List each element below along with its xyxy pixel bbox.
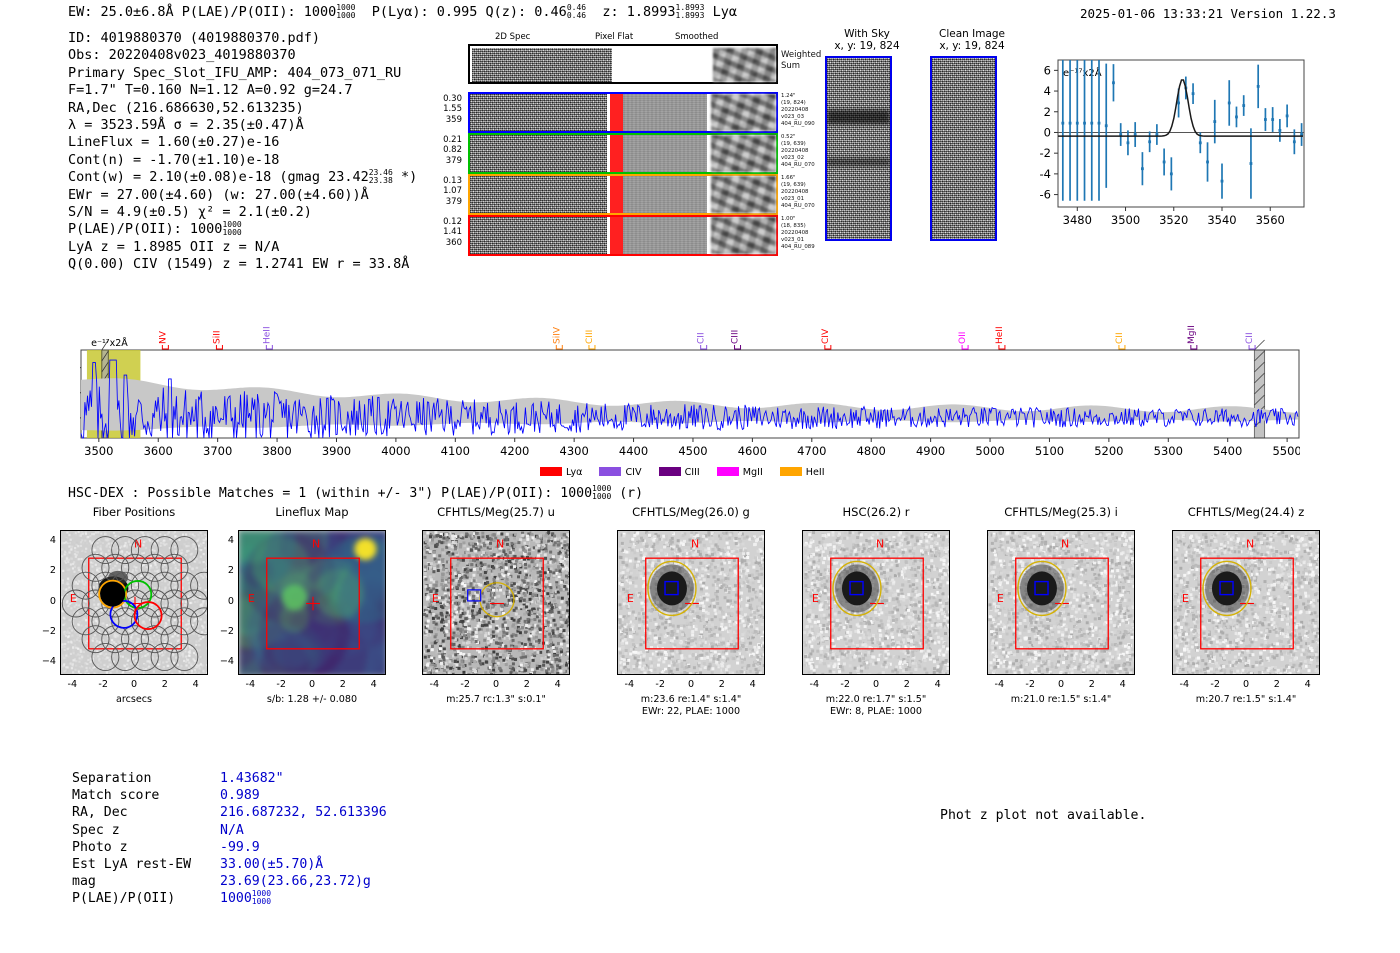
thumbnail-image-4: NE <box>802 530 950 675</box>
cutout-sky-band <box>827 110 890 124</box>
detection-info-block: ID: 4019880370 (4019880370.pdf) Obs: 202… <box>68 30 417 274</box>
cutout-xy-1: x, y: 19, 824 <box>912 40 1032 52</box>
compass-east-6: E <box>1182 592 1189 605</box>
compass-east-0: E <box>70 592 77 605</box>
spec2d-row-3 <box>468 215 778 256</box>
thumb-overlay-4: NE <box>803 531 950 675</box>
thumbnail-caption-3: m:23.6 re:1.4" s:1.4"EWr: 22, PLAE: 1000 <box>585 694 797 718</box>
legend-item-CIV: CIV <box>599 467 641 478</box>
match-value-1: 0.989 <box>220 788 260 803</box>
thumbnail-1-xtick-2: 0 <box>302 679 322 690</box>
linefit-plot: 34803500352035403560-6-4-20246e⁻¹⁷x2Å <box>1020 52 1310 237</box>
bigspec-xtick: 4900 <box>916 444 945 458</box>
thumbnail-caption-2: m:25.7 rc:1.3" s:0.1" <box>390 694 602 706</box>
thumbnail-title-4: HSC(26.2) r <box>777 505 975 519</box>
bigspec-xtick: 3600 <box>144 444 173 458</box>
match-value-6: 23.69(23.66,23.72)g <box>220 874 371 889</box>
legend-label-CIII: CIII <box>685 467 700 478</box>
bigspec-xtick: 5000 <box>975 444 1004 458</box>
thumbnail-caption-line1-6: m:20.7 re:1.5" s:1.4" <box>1140 694 1352 706</box>
thumbnail-caption-line1-1: s/b: 1.28 +/- 0.080 <box>206 694 418 706</box>
svg-text:CII: CII <box>1245 332 1255 344</box>
row-0-pixelflat <box>623 94 707 131</box>
bigspec-xtick: 4700 <box>797 444 826 458</box>
legend-item-CIII: CIII <box>659 467 700 478</box>
row-0-stat-2: 359 <box>422 115 462 125</box>
cutout-panel: With Skyx, y: 19, 824Clean Imagex, y: 19… <box>810 28 1020 243</box>
svg-text:2: 2 <box>1044 105 1051 119</box>
thumbnail-title-3: CFHTLS/Meg(26.0) g <box>592 505 790 519</box>
bigspec-xtick: 3800 <box>262 444 291 458</box>
line-marker-OII-8: OII <box>958 332 968 349</box>
row-3-pixelflat <box>623 217 707 254</box>
svg-text:HeII: HeII <box>995 326 1005 344</box>
thumbnail-0-ytick-4: −4 <box>38 656 56 667</box>
bigspec-xtick: 4500 <box>678 444 707 458</box>
row-2-smoothed <box>711 176 776 213</box>
linefit-unit-label: e⁻¹⁷x2Å <box>1063 66 1102 79</box>
bigspec-xtick: 5300 <box>1154 444 1183 458</box>
line-marker-CIV-7: CIV <box>821 328 831 349</box>
cutout-sky-band-2 <box>827 158 890 166</box>
bigspec-xtick: 4300 <box>560 444 589 458</box>
row-2-stats: 0.131.07379 <box>422 176 462 207</box>
row-1-pixelflat <box>623 135 707 172</box>
svg-text:-2: -2 <box>1040 146 1051 160</box>
bigspec-legend: LyαCIVCIIIMgIIHeII <box>540 462 842 481</box>
bigspec-xtick: 3900 <box>322 444 351 458</box>
thumbnail-6-xtick-3: 2 <box>1267 679 1287 690</box>
match-key-2: RA, Dec <box>72 804 220 821</box>
thumbnail-caption-5: m:21.0 re:1.5" s:1.4" <box>955 694 1167 706</box>
thumbnail-title-5: CFHTLS/Meg(25.3) i <box>962 505 1160 519</box>
line-marker-MgII-11: MgII <box>1187 325 1197 349</box>
row-2-pixelflat <box>623 176 707 213</box>
thumbnail-3-xtick-1: -2 <box>650 679 670 690</box>
weighted-sum-2dspec <box>472 48 612 82</box>
legend-item-HeII: HeII <box>780 467 825 478</box>
thumbnail-0-ytick-0: 4 <box>38 535 56 546</box>
thumbnail-5-xtick-0: -4 <box>989 679 1009 690</box>
match-value-2: 216.687232, 52.613396 <box>220 805 387 820</box>
bigspec-xtick: 4100 <box>441 444 470 458</box>
thumbnail-5-xtick-1: -2 <box>1020 679 1040 690</box>
info-ewr: EWr = 27.00(±4.60) (w: 27.00(±4.60))Å <box>68 187 417 204</box>
legend-label-HeII: HeII <box>806 467 825 478</box>
thumbnail-caption-line1-3: m:23.6 re:1.4" s:1.4" <box>585 694 797 706</box>
row-3-smoothed <box>711 217 776 254</box>
row-0-badcol <box>610 94 623 131</box>
compass-north-2: N <box>496 538 504 551</box>
thumbnail-title-0: Fiber Positions <box>35 505 233 519</box>
match-row-4: Photo z-99.9 <box>72 839 387 856</box>
weighted-sum-row <box>468 44 778 84</box>
legend-label-MgII: MgII <box>743 467 763 478</box>
compass-east-1: E <box>248 592 255 605</box>
info-cont-n: Cont(n) = -1.70(±1.10)e-18 <box>68 152 417 169</box>
bigspec-svg: 0243500360037003800390040004100420043004… <box>80 300 1300 475</box>
cutout-image-0 <box>825 56 892 241</box>
linefit-svg: 34803500352035403560-6-4-20246e⁻¹⁷x2Å <box>1020 52 1310 237</box>
match-row-6: mag23.69(23.66,23.72)g <box>72 873 387 890</box>
cutout-noise-1 <box>930 56 997 241</box>
svg-text:3520: 3520 <box>1159 213 1188 227</box>
spec2d-row-1 <box>468 133 778 174</box>
bigspec-xtick: 5100 <box>1035 444 1064 458</box>
thumbnail-3-xtick-0: -4 <box>619 679 639 690</box>
thumbnail-image-5: NE <box>987 530 1135 675</box>
thumbnail-caption-line2-4: EWr: 8, PLAE: 1000 <box>770 706 982 718</box>
match-key-1: Match score <box>72 787 220 804</box>
svg-text:3560: 3560 <box>1256 213 1285 227</box>
match-key-7: P(LAE)/P(OII) <box>72 890 220 907</box>
row-1-stat-1: 0.82 <box>422 145 462 155</box>
bigspec-xtick: 4600 <box>738 444 767 458</box>
row-3-stats: 0.121.41360 <box>422 217 462 248</box>
thumb-overlay-6: NE <box>1173 531 1320 675</box>
svg-text:3500: 3500 <box>1111 213 1140 227</box>
bigspec-xtick: 4400 <box>619 444 648 458</box>
line-marker-CII-5: CII <box>697 332 707 349</box>
row-3-2dspec <box>470 217 607 254</box>
thumbnail-1-xtick-4: 4 <box>364 679 384 690</box>
spec2d-row-0 <box>468 92 778 133</box>
thumbnail-caption-line1-2: m:25.7 rc:1.3" s:0.1" <box>390 694 602 706</box>
header-z: z: 1.8993 <box>602 4 675 20</box>
legend-swatch-Lyα <box>540 467 562 476</box>
info-id: ID: 4019880370 (4019880370.pdf) <box>68 30 417 47</box>
thumbnail-0-xtick-3: 2 <box>155 679 175 690</box>
timestamp-version: 2025-01-06 13:33:21 Version 1.22.3 <box>1080 6 1336 21</box>
info-q-civ: Q(0.00) CIV (1549) z = 1.2741 EW r = 33.… <box>68 256 417 273</box>
compass-east-5: E <box>997 592 1004 605</box>
thumbnail-image-0: NE <box>60 530 208 675</box>
bigspec-xtick: 5400 <box>1213 444 1242 458</box>
svg-text:CIV: CIV <box>821 328 831 344</box>
weighted-sum-smoothed <box>713 48 776 82</box>
thumbnail-6-xtick-0: -4 <box>1174 679 1194 690</box>
match-value-4: -99.9 <box>220 840 260 855</box>
row-0-stat-0: 0.30 <box>422 94 462 104</box>
thumbnail-0-xtick-2: 0 <box>124 679 144 690</box>
line-marker-CIII-6: CIII <box>731 330 741 349</box>
info-plae-fraction: 10001000 <box>222 221 241 237</box>
match-row-5: Est LyA rest-EW33.00(±5.70)Å <box>72 856 387 873</box>
bigspec-xtick: 4000 <box>381 444 410 458</box>
info-cont-w: Cont(w) = 2.10(±0.08)e-18 (gmag 23.4223.… <box>68 169 417 186</box>
bigspec-xtick: 5500 <box>1272 444 1300 458</box>
svg-text:CII: CII <box>697 332 707 344</box>
match-key-6: mag <box>72 873 220 890</box>
cutout-name-1: Clean Image <box>912 28 1032 40</box>
svg-text:SiII: SiII <box>212 330 222 344</box>
legend-swatch-CIV <box>599 467 621 476</box>
compass-north-6: N <box>1246 538 1254 551</box>
thumb-overlay-1: NE <box>239 531 386 675</box>
thumbnail-1-ytick-4: −4 <box>216 656 234 667</box>
compass-north-5: N <box>1061 538 1069 551</box>
cutout-name-0: With Sky <box>807 28 927 40</box>
thumbnail-5-xtick-2: 0 <box>1051 679 1071 690</box>
legend-label-Lyα: Lyα <box>566 467 582 478</box>
compass-east-4: E <box>812 592 819 605</box>
row-2-stat-0: 0.13 <box>422 176 462 186</box>
compass-north-0: N <box>134 538 142 551</box>
thumbnail-1-ytick-0: 4 <box>216 535 234 546</box>
photz-note: Phot z plot not available. <box>940 808 1146 823</box>
thumbnail-0-xtick-0: -4 <box>62 679 82 690</box>
svg-text:CIII: CIII <box>731 330 741 344</box>
row-3-badcol <box>610 217 623 254</box>
full-spectrum-plot: 0243500360037003800390040004100420043004… <box>80 300 1300 475</box>
spec2d-row-2 <box>468 174 778 215</box>
match-key-4: Photo z <box>72 839 220 856</box>
thumbnail-1-ytick-2: 0 <box>216 596 234 607</box>
row-3-stat-2: 360 <box>422 238 462 248</box>
match-value-0: 1.43682" <box>220 771 284 786</box>
match-key-0: Separation <box>72 770 220 787</box>
compass-north-1: N <box>312 538 320 551</box>
thumbnail-1-ytick-3: −2 <box>216 626 234 637</box>
row-0-smoothed <box>711 94 776 131</box>
cutout-title-0: With Skyx, y: 19, 824 <box>807 28 927 53</box>
cutout-xy-0: x, y: 19, 824 <box>807 40 927 52</box>
info-redshifts: LyA z = 1.8985 OII z = N/A <box>68 239 417 256</box>
bigspec-xtick: 3700 <box>203 444 232 458</box>
match-value-7: 1000 <box>220 891 252 906</box>
legend-swatch-MgII <box>717 467 739 476</box>
svg-text:NV: NV <box>158 330 168 344</box>
svg-text:6: 6 <box>1044 63 1051 77</box>
line-marker-HeII-9: HeII <box>995 326 1005 349</box>
thumbnail-2-xtick-0: -4 <box>424 679 444 690</box>
row-1-smoothed <box>711 135 776 172</box>
row-0-stats: 0.301.55359 <box>422 94 462 125</box>
legend-label-CIV: CIV <box>625 467 641 478</box>
thumbnail-title-1: Lineflux Map <box>213 505 411 519</box>
info-seeing: F=1.7" T=0.160 N=1.12 A=0.92 g=24.7 <box>68 82 417 99</box>
thumbnail-4-xtick-1: -2 <box>835 679 855 690</box>
thumbnail-3-xtick-3: 2 <box>712 679 732 690</box>
header-ew-plae: EW: 25.0±6.8Å P(LAE)/P(OII): 1000 <box>68 4 336 20</box>
info-radec: RA,Dec (216.686630,52.613235) <box>68 100 417 117</box>
line-marker-CII-12: CII <box>1245 332 1255 349</box>
thumbnail-3-xtick-4: 4 <box>743 679 763 690</box>
thumb-overlay-2: NE <box>423 531 570 675</box>
row-0-stat-1: 1.55 <box>422 104 462 114</box>
thumbnail-2-xtick-2: 0 <box>486 679 506 690</box>
thumbnail-1-xtick-3: 2 <box>333 679 353 690</box>
legend-swatch-HeII <box>780 467 802 476</box>
match-value-3: N/A <box>220 823 244 838</box>
thumbnail-5-xtick-3: 2 <box>1082 679 1102 690</box>
legend-item-MgII: MgII <box>717 467 763 478</box>
thumbnail-0-xtick-4: 4 <box>186 679 206 690</box>
svg-text:-4: -4 <box>1040 167 1051 181</box>
thumbnail-caption-6: m:20.7 re:1.5" s:1.4" <box>1140 694 1352 706</box>
match-value-5: 33.00(±5.70)Å <box>220 857 323 872</box>
thumbnail-caption-line1-5: m:21.0 re:1.5" s:1.4" <box>955 694 1167 706</box>
line-marker-NV-0: NV <box>158 330 168 349</box>
svg-text:-6: -6 <box>1040 188 1051 202</box>
thumbnail-title-6: CFHTLS/Meg(24.4) z <box>1147 505 1345 519</box>
thumbnail-0-ytick-1: 2 <box>38 565 56 576</box>
thumbnail-image-1: NE <box>238 530 386 675</box>
thumbnail-caption-1: s/b: 1.28 +/- 0.080 <box>206 694 418 706</box>
thumbnail-1-xtick-1: -2 <box>271 679 291 690</box>
match-key-3: Spec z <box>72 822 220 839</box>
header-line-id: Lyα <box>713 4 737 20</box>
info-lambda: λ = 3523.59Å σ = 2.35(±0.47)Å <box>68 117 417 134</box>
row-2-stat-2: 379 <box>422 197 462 207</box>
row-1-stats: 0.210.82379 <box>422 135 462 166</box>
row-1-2dspec <box>470 135 607 172</box>
info-plae: P(LAE)/P(OII): 100010001000 <box>68 221 417 238</box>
thumbnail-6-xtick-4: 4 <box>1298 679 1318 690</box>
hscdex-fraction: 10001000 <box>592 485 611 501</box>
svg-text:OII: OII <box>958 332 968 344</box>
thumbnail-0-ytick-3: −2 <box>38 626 56 637</box>
line-marker-CIII-4: CIII <box>585 330 595 349</box>
thumbnail-2-xtick-3: 2 <box>517 679 537 690</box>
thumbnail-image-3: NE <box>617 530 765 675</box>
thumbnail-1-ytick-1: 2 <box>216 565 234 576</box>
match-table: Separation1.43682"Match score0.989RA, De… <box>72 770 387 908</box>
row-2-2dspec <box>470 176 607 213</box>
qz-fraction: 0.460.46 <box>567 4 586 20</box>
svg-text:CIII: CIII <box>585 330 595 344</box>
match-row-0: Separation1.43682" <box>72 770 387 787</box>
svg-text:SiIV: SiIV <box>552 326 562 344</box>
svg-text:CII: CII <box>1115 332 1125 344</box>
compass-east-2: E <box>432 592 439 605</box>
info-sn: S/N = 4.9(±0.5) χ² = 2.1(±0.2) <box>68 204 417 221</box>
row-2-stat-1: 1.07 <box>422 186 462 196</box>
thumbnail-5-xtick-4: 4 <box>1113 679 1133 690</box>
thumbnail-image-6: NE <box>1172 530 1320 675</box>
thumb-overlay-0: NE <box>61 531 208 675</box>
thumbnail-4-xtick-3: 2 <box>897 679 917 690</box>
match-row-7: P(LAE)/P(OII)100010001000 <box>72 890 387 907</box>
gmag-fraction: 23.4623.38 <box>369 169 393 185</box>
thumbnail-4-xtick-2: 0 <box>866 679 886 690</box>
row-1-stat-2: 379 <box>422 156 462 166</box>
row-3-stat-0: 0.12 <box>422 217 462 227</box>
thumbnail-caption-4: m:22.0 re:1.7" s:1.5"EWr: 8, PLAE: 1000 <box>770 694 982 718</box>
z-fraction: 1.89931.8993 <box>676 4 705 20</box>
thumbnail-strip: Fiber PositionsNE-4-2024420−2−4arcsecsLi… <box>0 505 1400 735</box>
cutout-noise-0 <box>825 56 892 241</box>
row-1-stat-0: 0.21 <box>422 135 462 145</box>
thumbnail-image-2: NE <box>422 530 570 675</box>
row-1-badcol <box>610 135 623 172</box>
match-row-3: Spec zN/A <box>72 822 387 839</box>
thumbnail-4-xtick-0: -4 <box>804 679 824 690</box>
compass-north-3: N <box>691 538 699 551</box>
thumbnail-2-xtick-4: 4 <box>548 679 568 690</box>
compass-north-4: N <box>876 538 884 551</box>
line-marker-SiII-1: SiII <box>212 330 222 349</box>
cutout-image-1 <box>930 56 997 241</box>
bigspec-xtick: 4800 <box>857 444 886 458</box>
svg-text:3480: 3480 <box>1063 213 1092 227</box>
legend-swatch-CIII <box>659 467 681 476</box>
bigspec-xtick: 5200 <box>1094 444 1123 458</box>
line-marker-SiIV-3: SiIV <box>552 326 562 349</box>
svg-text:0: 0 <box>1044 125 1051 139</box>
line-marker-HeII-2: HeII <box>262 326 272 349</box>
thumbnail-2-xtick-1: -2 <box>455 679 475 690</box>
bigspec-xtick: 4200 <box>500 444 529 458</box>
bigspec-unit-label: e⁻¹⁷x2Å <box>91 337 128 349</box>
svg-text:3540: 3540 <box>1207 213 1236 227</box>
hscdex-text: HSC-DEX : Possible Matches = 1 (within +… <box>68 486 592 501</box>
info-obs: Obs: 20220408v023_4019880370 <box>68 47 417 64</box>
header-plya-qz: P(Lyα): 0.995 Q(z): 0.46 <box>372 4 567 20</box>
thumbnail-0-ytick-2: 0 <box>38 596 56 607</box>
svg-text:4: 4 <box>1044 84 1051 98</box>
info-lineflux: LineFlux = 1.60(±0.27)e-16 <box>68 134 417 151</box>
spec2d-column-header-2: Smoothed <box>675 32 718 42</box>
thumb-overlay-5: NE <box>988 531 1135 675</box>
hscdex-band: (r) <box>619 486 643 501</box>
match-row-2: RA, Dec216.687232, 52.613396 <box>72 804 387 821</box>
thumbnail-title-2: CFHTLS/Meg(25.7) u <box>397 505 595 519</box>
spec2d-column-header-0: 2D Spec <box>495 32 530 42</box>
line-marker-CII-10: CII <box>1115 332 1125 349</box>
match-row-1: Match score0.989 <box>72 787 387 804</box>
legend-item-Lyα: Lyα <box>540 467 582 478</box>
thumb-overlay-3: NE <box>618 531 765 675</box>
compass-east-3: E <box>627 592 634 605</box>
row-3-stat-1: 1.41 <box>422 227 462 237</box>
match-key-5: Est LyA rest-EW <box>72 856 220 873</box>
hscdex-summary: HSC-DEX : Possible Matches = 1 (within +… <box>68 485 643 501</box>
thumbnail-6-xtick-1: -2 <box>1205 679 1225 690</box>
spec2d-column-header-1: Pixel Flat <box>595 32 633 42</box>
match-plae-fraction: 10001000 <box>252 890 271 906</box>
svg-text:MgII: MgII <box>1187 325 1197 344</box>
info-primary: Primary Spec_Slot_IFU_AMP: 404_073_071_R… <box>68 65 417 82</box>
thumbnail-caption-line1-4: m:22.0 re:1.7" s:1.5" <box>770 694 982 706</box>
row-0-2dspec <box>470 94 607 131</box>
bigspec-xtick: 3500 <box>84 444 113 458</box>
thumbnail-6-xtick-2: 0 <box>1236 679 1256 690</box>
thumbnail-0-xtick-1: -2 <box>93 679 113 690</box>
row-3-meta-4: 404_RU_089 <box>781 244 815 251</box>
svg-text:HeII: HeII <box>262 326 272 344</box>
thumbnail-caption-line2-3: EWr: 22, PLAE: 1000 <box>585 706 797 718</box>
row-2-badcol <box>610 176 623 213</box>
thumbnail-3-xtick-2: 0 <box>681 679 701 690</box>
thumbnail-1-xtick-0: -4 <box>240 679 260 690</box>
thumbnail-4-xtick-4: 4 <box>928 679 948 690</box>
plae-fraction: 10001000 <box>336 4 355 20</box>
spec2d-host: 2D SpecPixel FlatSmoothedWeightedSum0.30… <box>420 30 780 262</box>
cutout-title-1: Clean Imagex, y: 19, 824 <box>912 28 1032 53</box>
header-summary: EW: 25.0±6.8Å P(LAE)/P(OII): 10001000100… <box>68 4 737 20</box>
